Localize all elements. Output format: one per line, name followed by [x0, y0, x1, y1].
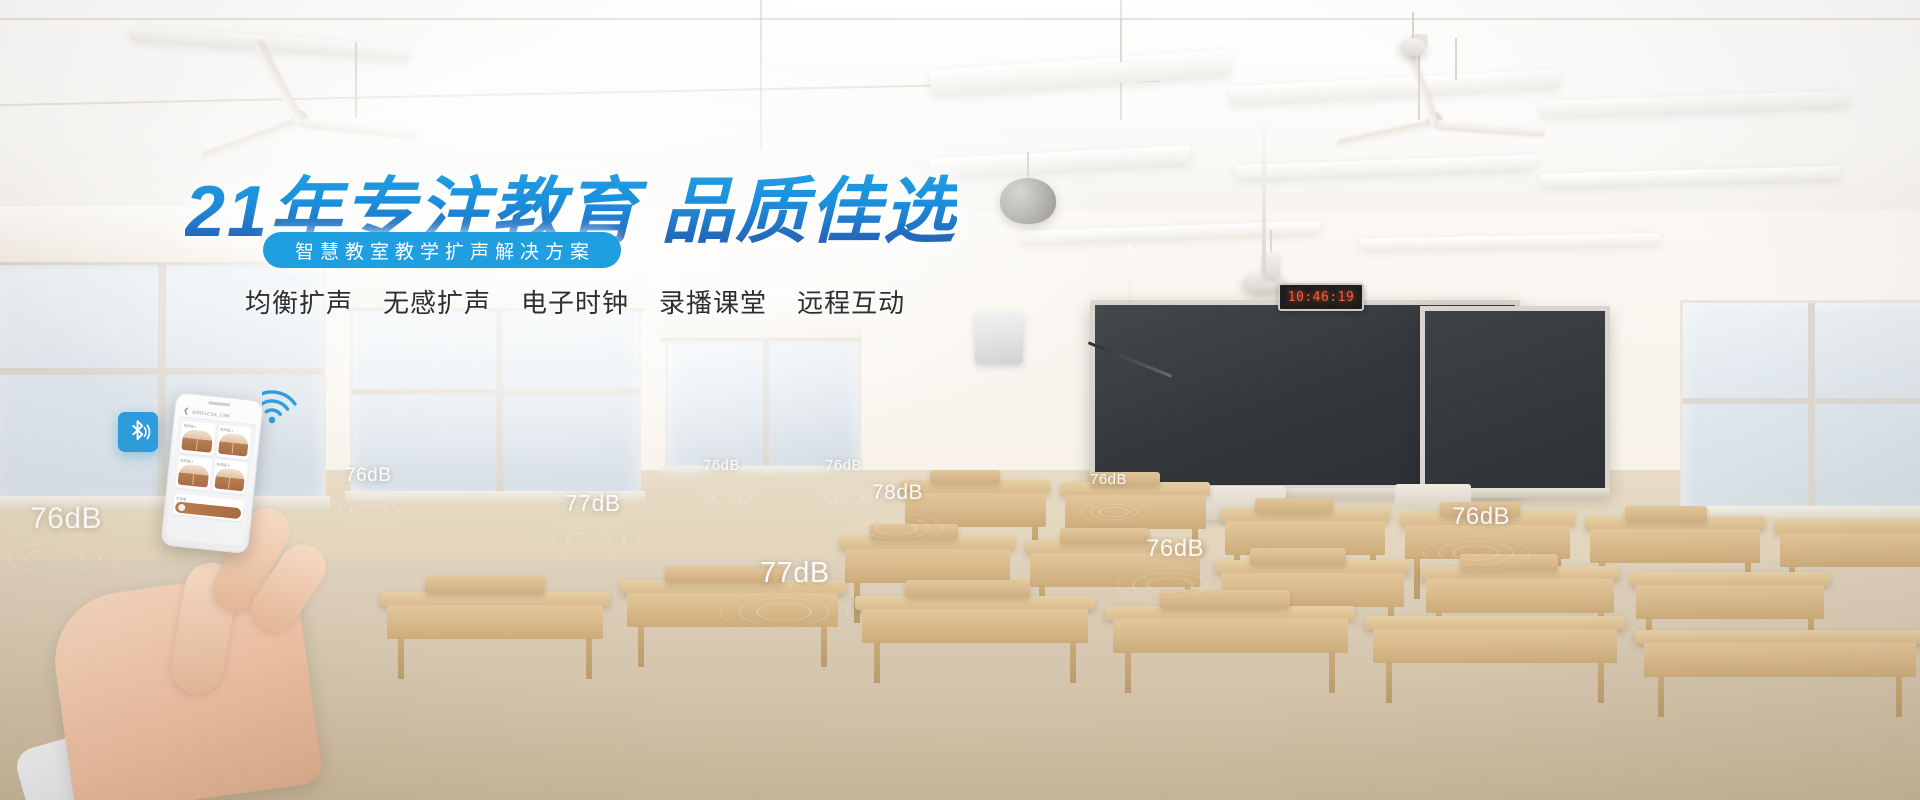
- speaker-icon: [214, 467, 246, 491]
- window-left-3: [665, 330, 861, 476]
- sound-level-label-10: 76dB: [1452, 503, 1510, 531]
- ceiling-speaker-1: [1000, 178, 1056, 224]
- chair: [1625, 506, 1707, 522]
- sound-level-label-3: 77dB: [565, 490, 621, 517]
- feature-item-5: 远程互动: [797, 283, 905, 320]
- sound-level-label-6: 78dB: [872, 481, 923, 505]
- feature-list: 均衡扩声无感扩声电子时钟录播课堂远程互动: [245, 283, 905, 320]
- chevron-left-icon[interactable]: ❮: [183, 408, 190, 416]
- wifi-signal-icon: [262, 380, 312, 426]
- feature-item-3: 电子时钟: [521, 283, 629, 320]
- window-right: [1680, 300, 1920, 516]
- sound-ripple: [1422, 536, 1530, 570]
- sound-ripple: [537, 522, 640, 555]
- ceiling-speaker-3: [1400, 38, 1426, 56]
- sound-level-label-5: 76dB: [825, 457, 862, 474]
- speaker-icon: [178, 464, 210, 488]
- feature-item-1: 均衡扩声: [245, 283, 353, 320]
- smartphone[interactable]: ❮ WIRELESS_LINK 扬声器 1扬声器 2扬声器 3扬声器 4 主音量: [160, 392, 264, 554]
- phone-app-title: WIRELESS_LINK: [192, 410, 231, 419]
- desk: [1105, 606, 1355, 706]
- light-hanger-rod: [1455, 38, 1457, 80]
- volume-slider-knob[interactable]: [178, 504, 186, 512]
- phone-screen[interactable]: ❮ WIRELESS_LINK 扬声器 1扬声器 2扬声器 3扬声器 4 主音量: [166, 405, 258, 546]
- desk: [855, 596, 1095, 692]
- sound-level-label-9: 76dB: [1146, 535, 1204, 563]
- clock-time: 10:46:19: [1288, 290, 1355, 305]
- desk: [1635, 630, 1920, 740]
- blackboard-side-panel: [1420, 306, 1610, 494]
- wall-control-box: [975, 312, 1023, 364]
- ceiling-seam: [0, 18, 1920, 20]
- speaker-card-3[interactable]: 扬声器 3: [175, 455, 212, 490]
- sound-ripple: [1116, 568, 1224, 602]
- chair: [930, 470, 1000, 484]
- feature-item-4: 录播课堂: [659, 283, 767, 320]
- sound-level-label-8: 76dB: [1090, 471, 1127, 488]
- mic-pole-2: [1262, 118, 1266, 274]
- speaker-icon: [218, 433, 250, 457]
- chair: [425, 576, 545, 594]
- digital-clock: 10:46:19: [1278, 283, 1364, 311]
- sound-level-label-4: 76dB: [703, 457, 740, 474]
- window-left-2: [350, 300, 641, 501]
- fan-rod: [1418, 44, 1420, 120]
- sound-ripple: [849, 513, 944, 543]
- speaker-card-2[interactable]: 扬声器 2: [215, 424, 252, 459]
- sound-ripple: [1080, 501, 1149, 523]
- chair: [905, 580, 1030, 598]
- ceiling-seam: [760, 0, 762, 150]
- bluetooth-icon: [118, 412, 158, 452]
- speaker-card-grid: 扬声器 1扬声器 2扬声器 3扬声器 4: [171, 417, 256, 498]
- chair: [1250, 548, 1346, 565]
- chair: [1060, 528, 1150, 544]
- speaker-icon: [181, 429, 213, 453]
- desk: [1365, 616, 1625, 720]
- feature-item-2: 无感扩声: [383, 283, 491, 320]
- speaker-card-4[interactable]: 扬声器 4: [212, 459, 249, 494]
- sound-ripple: [693, 487, 762, 509]
- banner-stage: 10:46:19: [0, 0, 1920, 800]
- sound-ripple: [719, 591, 848, 632]
- sound-level-label-7: 77dB: [760, 557, 830, 590]
- light-hanger-rod: [1120, 20, 1122, 62]
- volume-slider-card[interactable]: 主音量: [172, 493, 244, 521]
- earpiece-speaker: [208, 401, 230, 406]
- chair: [1255, 498, 1333, 513]
- subtitle-pill-label: 智慧教室教学扩声解决方案: [289, 237, 595, 264]
- fan-rod: [355, 42, 357, 118]
- sound-level-label-2: 76dB: [345, 465, 391, 487]
- speaker-card-1[interactable]: 扬声器 1: [179, 421, 216, 456]
- subtitle-pill: 智慧教室教学扩声解决方案: [263, 232, 621, 268]
